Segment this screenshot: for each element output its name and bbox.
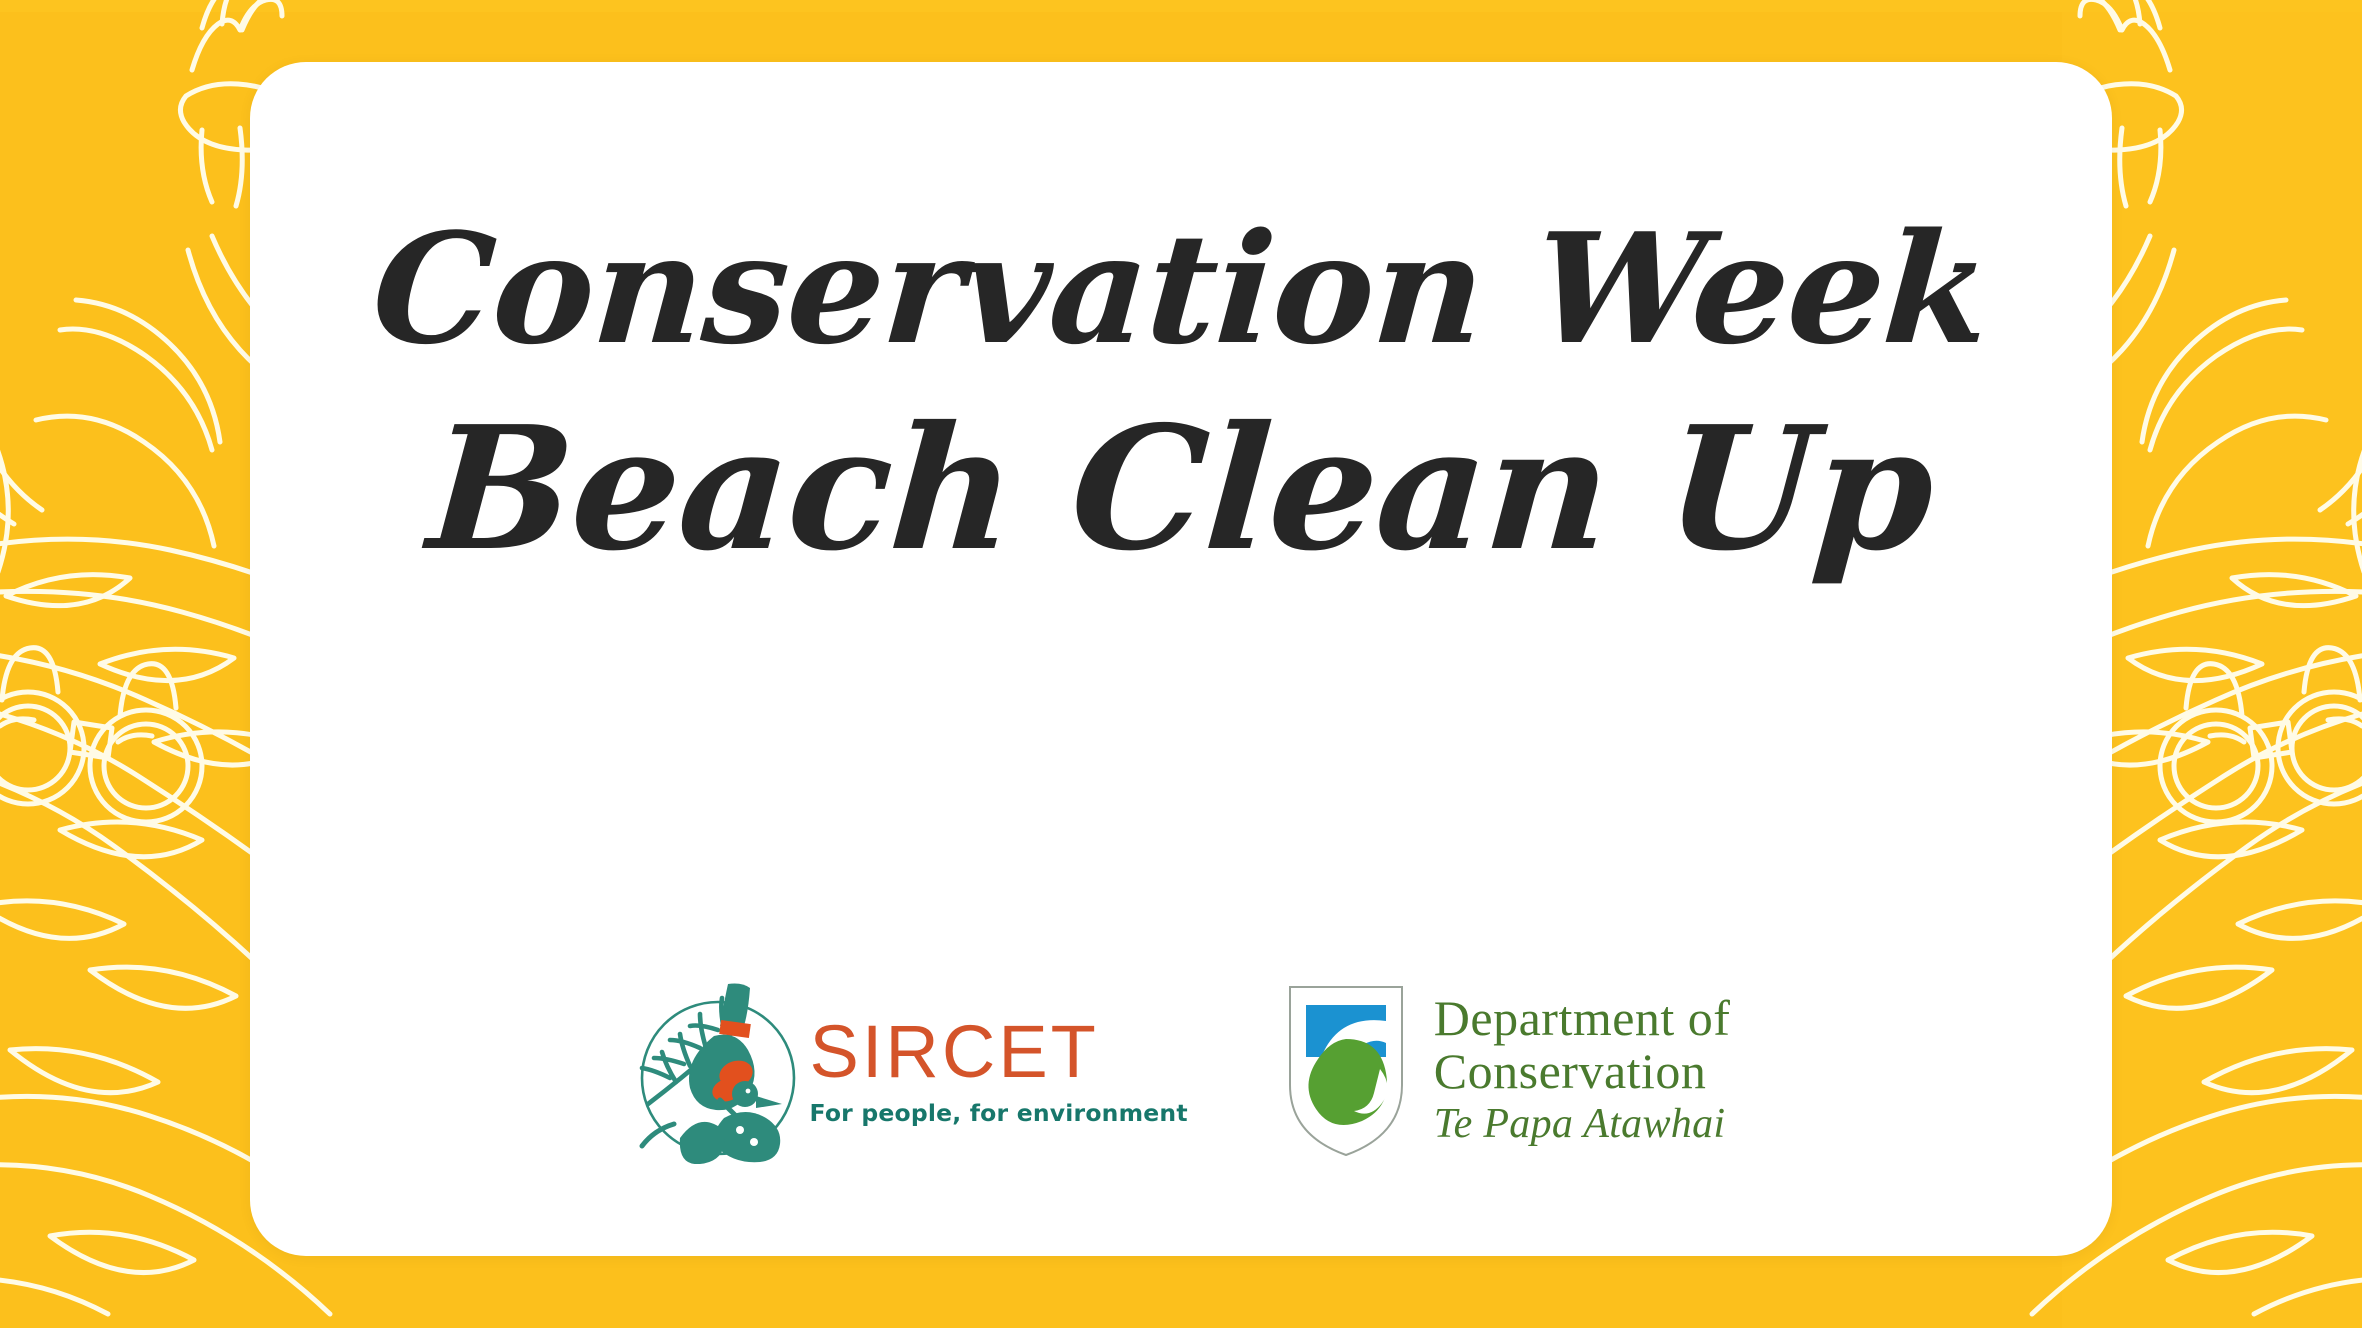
content-card: Conservation Week Beach Clean Up	[250, 62, 2112, 1256]
sircet-bird-branch-hands-icon	[632, 978, 804, 1164]
doc-shield-koru-icon	[1284, 981, 1408, 1161]
headline-line-2: Beach Clean Up	[250, 394, 2112, 584]
logo-strip: SIRCET For people, for environment Depar…	[250, 978, 2112, 1164]
sircet-tagline: For people, for environment	[810, 1099, 1188, 1127]
sircet-logo: SIRCET For people, for environment	[632, 978, 1188, 1164]
headline-line-1: Conservation Week	[250, 184, 2112, 394]
sircet-text-block: SIRCET For people, for environment	[810, 1015, 1188, 1127]
page-title: Conservation Week Beach Clean Up	[250, 184, 2112, 584]
doc-text-block: Department of Conservation Te Papa Atawh…	[1434, 992, 1731, 1151]
doc-line-2: Conservation	[1434, 1045, 1731, 1098]
doc-line-3: Te Papa Atawhai	[1434, 1098, 1731, 1151]
doc-logo: Department of Conservation Te Papa Atawh…	[1284, 981, 1731, 1161]
doc-line-1: Department of	[1434, 992, 1731, 1045]
sircet-wordmark: SIRCET	[810, 1015, 1099, 1089]
